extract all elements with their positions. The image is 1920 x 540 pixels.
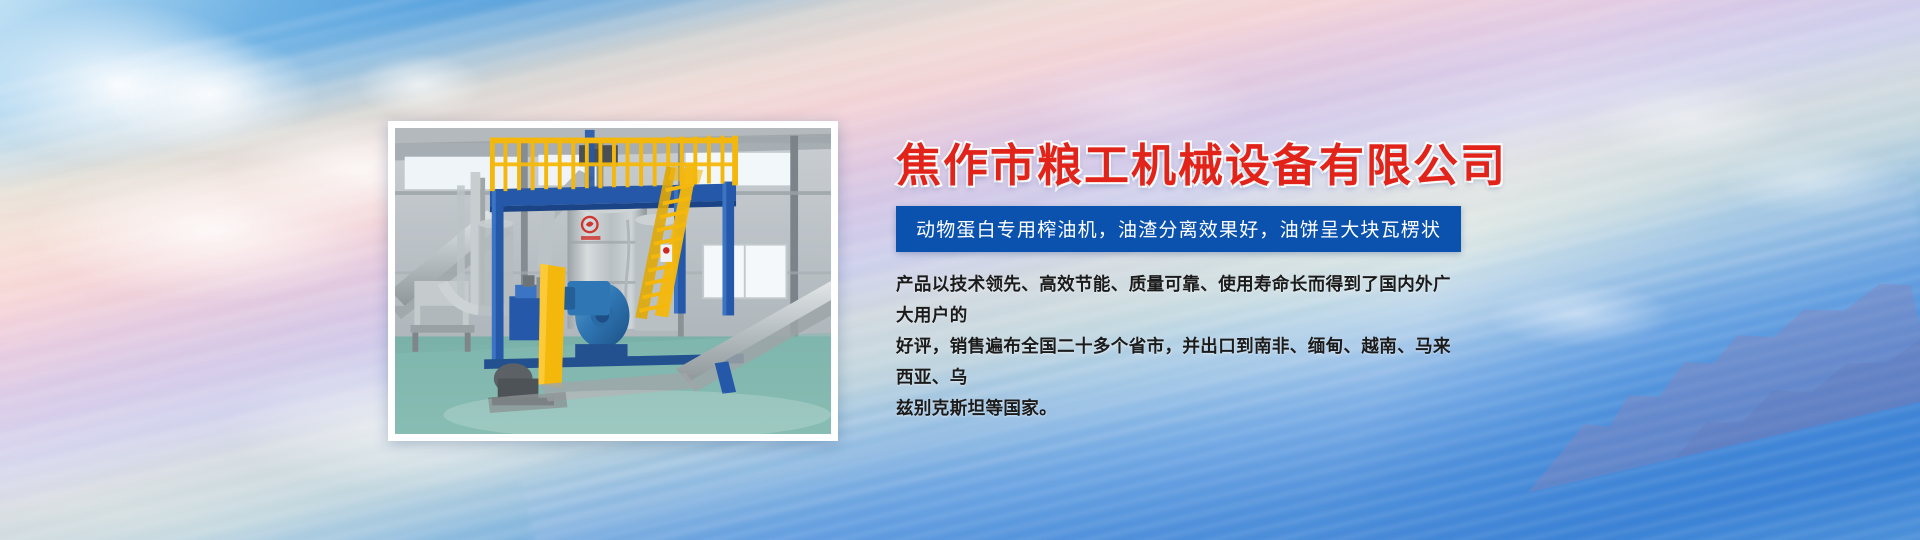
tagline-bar: 动物蛋白专用榨油机，油渣分离效果好，油饼呈大块瓦楞状 <box>896 206 1461 252</box>
product-photo-frame <box>388 121 838 441</box>
description-line: 兹别克斯坦等国家。 <box>896 394 1456 425</box>
promo-banner: 焦作市粮工机械设备有限公司 动物蛋白专用榨油机，油渣分离效果好，油饼呈大块瓦楞状… <box>0 0 1920 540</box>
product-photo <box>395 128 831 434</box>
description-paragraph: 产品以技术领先、高效节能、质量可靠、使用寿命长而得到了国内外广大用户的 好评，销… <box>896 270 1456 425</box>
banner-text-block: 焦作市粮工机械设备有限公司 动物蛋白专用榨油机，油渣分离效果好，油饼呈大块瓦楞状… <box>896 140 1596 425</box>
company-title: 焦作市粮工机械设备有限公司 <box>896 140 1596 192</box>
description-line: 产品以技术领先、高效节能、质量可靠、使用寿命长而得到了国内外广大用户的 <box>896 270 1456 332</box>
description-line: 好评，销售遍布全国二十多个省市，并出口到南非、缅甸、越南、马来西亚、乌 <box>896 332 1456 394</box>
